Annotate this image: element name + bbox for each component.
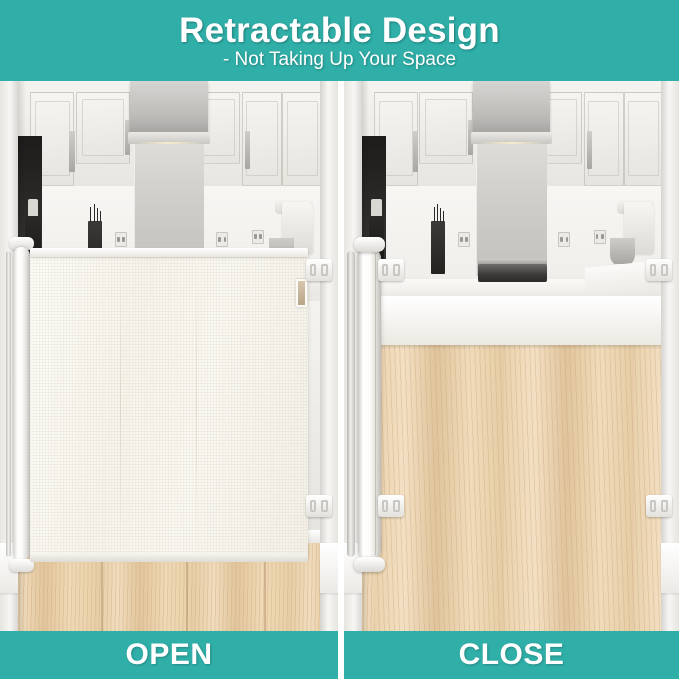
footer-open-half: OPEN [0, 631, 338, 679]
door-jamb-right [320, 81, 338, 631]
knife [94, 204, 95, 223]
cabinet-handle [413, 131, 418, 172]
wall-socket [216, 232, 228, 246]
label-close: CLOSE [459, 640, 565, 670]
panel-close [344, 81, 679, 631]
upper-cabinet [419, 92, 473, 164]
gate-guide-rail [347, 251, 355, 557]
knife [443, 211, 444, 222]
doorway-floor-visible [374, 301, 679, 631]
coffee-machine-top [28, 199, 38, 216]
doorway-threshold-baseboard [374, 296, 679, 346]
footer-close-half: CLOSE [344, 631, 679, 679]
footer-divider [338, 631, 344, 679]
gate-mesh-panel[interactable] [30, 256, 308, 558]
jamb-baseboard [320, 543, 338, 593]
cabinet-handle [245, 131, 250, 170]
panel-divider [338, 81, 344, 631]
wall-socket [458, 232, 470, 246]
induction-cooktop [478, 264, 547, 283]
gate-housing-post [13, 247, 30, 561]
cabinet-handle [69, 131, 74, 172]
gate-top-rail [30, 248, 308, 257]
gate-wall-bracket-bottom [306, 495, 332, 517]
coffee-machine-top [371, 199, 381, 216]
page-subtitle: - Not Taking Up Your Space [223, 50, 456, 69]
gate-guide-rail [6, 251, 11, 557]
door-jamb-right [661, 81, 679, 631]
gate-wall-bracket-top [378, 259, 404, 281]
gate-catch-bracket-top [646, 259, 672, 281]
gate-mesh-fold [120, 261, 121, 553]
gate-mesh-fold [196, 261, 197, 553]
upper-cabinet [282, 92, 323, 186]
header-banner: Retractable Design - Not Taking Up Your … [0, 0, 679, 81]
jamb-baseboard [661, 543, 679, 593]
upper-cabinet [76, 92, 130, 164]
knife [90, 207, 91, 223]
gate-housing-cap-top [354, 237, 385, 252]
range-hood [130, 81, 208, 139]
knife [437, 204, 438, 223]
range-hood [473, 81, 550, 139]
gate-wall-bracket-top [306, 259, 332, 281]
wall-socket [115, 232, 127, 246]
page-title: Retractable Design [179, 13, 500, 48]
knife [434, 207, 435, 223]
wall-socket [594, 230, 606, 244]
knife [440, 208, 441, 223]
splashback-edge [476, 144, 477, 276]
product-comparison-image: Retractable Design - Not Taking Up Your … [0, 0, 679, 679]
knife-block [431, 221, 445, 273]
gate-catch-bracket-bottom [646, 495, 672, 517]
comparison-stage [0, 81, 679, 631]
gate-housing-seam [375, 253, 376, 555]
gate-housing-cap-bottom [354, 557, 385, 572]
panel-open [0, 81, 338, 631]
gate-bottom-rail [30, 554, 308, 562]
wall-socket [252, 230, 264, 244]
upper-cabinet [624, 92, 664, 186]
knife [97, 208, 98, 223]
gate-wall-bracket-bottom [378, 495, 404, 517]
gate-handle[interactable] [296, 279, 307, 307]
wall-socket [558, 232, 570, 246]
cooker-splashback [476, 144, 546, 276]
label-open: OPEN [125, 640, 212, 670]
knife [100, 211, 101, 222]
cabinet-handle [587, 131, 592, 170]
